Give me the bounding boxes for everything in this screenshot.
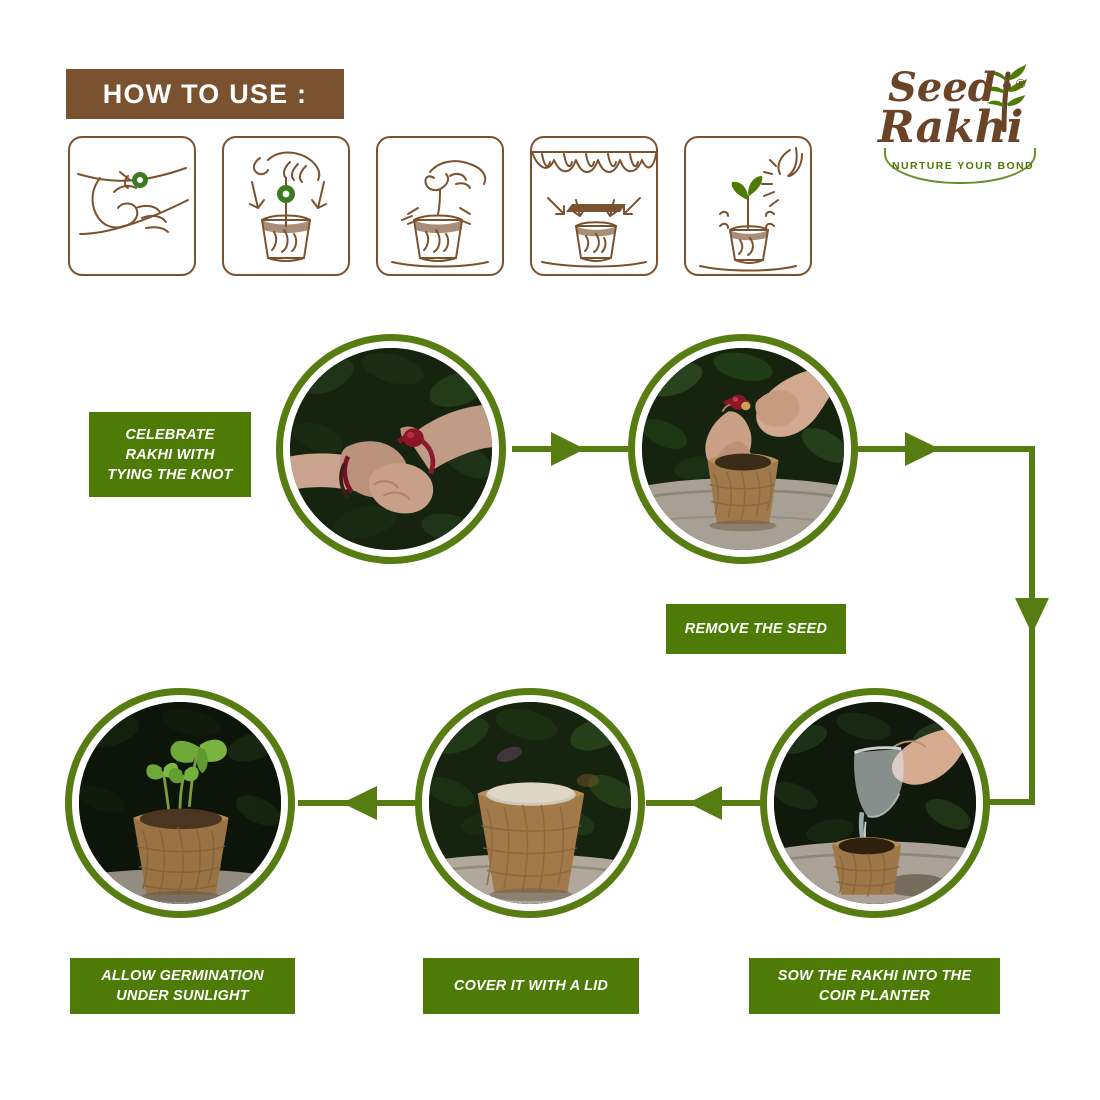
photo-removing-seed [642, 348, 844, 550]
arrow-step4-to-step5 [298, 786, 415, 820]
how-to-use-title: HOW TO USE : [103, 79, 307, 110]
step-label-remove-the-seed: REMOVE THE SEED [666, 604, 846, 654]
photo-circle-step-4 [415, 688, 645, 918]
registered-trademark-icon: ® [1016, 76, 1026, 91]
water-the-pot-icon [378, 138, 502, 274]
step-label-allow-germination: ALLOW GERMINATION UNDER SUNLIGHT [70, 958, 295, 1014]
step-label-1-text: CELEBRATE RAKHI WITH TYING THE KNOT [107, 425, 232, 485]
cover-with-lid-icon [532, 138, 656, 274]
photo-circle-step-5 [65, 688, 295, 918]
photo-tying-rakhi-knot [290, 348, 492, 550]
icon-box-cover-with-lid [530, 136, 658, 276]
arrow-step3-to-step4 [646, 786, 760, 820]
photo-sowing-and-watering [774, 702, 976, 904]
photo-germinated-seedling [79, 702, 281, 904]
photo-pot-with-lid [429, 702, 631, 904]
tie-rakhi-on-wrist-icon [70, 138, 194, 274]
brand-logo: Seed Rakhi ® NURTURE YOUR BOND [878, 52, 1038, 192]
step-label-4-text: COVER IT WITH A LID [454, 976, 608, 996]
step-label-2-text: REMOVE THE SEED [685, 619, 827, 639]
logo-word-rakhi: Rakhi [878, 106, 1023, 150]
photo-circle-step-3 [760, 688, 990, 918]
arrow-step1-to-step2 [512, 432, 628, 466]
icon-box-sunlight-germination [684, 136, 812, 276]
plant-seed-into-pot-icon [224, 138, 348, 274]
how-to-use-banner: HOW TO USE : [66, 69, 344, 119]
step-label-3-text: SOW THE RAKHI INTO THE COIR PLANTER [778, 966, 971, 1006]
photo-circle-step-2 [628, 334, 858, 564]
step-label-cover-with-lid: COVER IT WITH A LID [423, 958, 639, 1014]
step-label-sow-the-rakhi: SOW THE RAKHI INTO THE COIR PLANTER [749, 958, 1000, 1014]
step-label-celebrate-rakhi: CELEBRATE RAKHI WITH TYING THE KNOT [89, 412, 251, 497]
icon-box-water-pot [376, 136, 504, 276]
icon-box-plant-seed [222, 136, 350, 276]
logo-tagline: NURTURE YOUR BOND [892, 160, 1034, 172]
photo-circle-step-1 [276, 334, 506, 564]
icon-box-tie-rakhi [68, 136, 196, 276]
sunlight-germination-icon [686, 138, 810, 274]
step-label-5-text: ALLOW GERMINATION UNDER SUNLIGHT [101, 966, 264, 1006]
